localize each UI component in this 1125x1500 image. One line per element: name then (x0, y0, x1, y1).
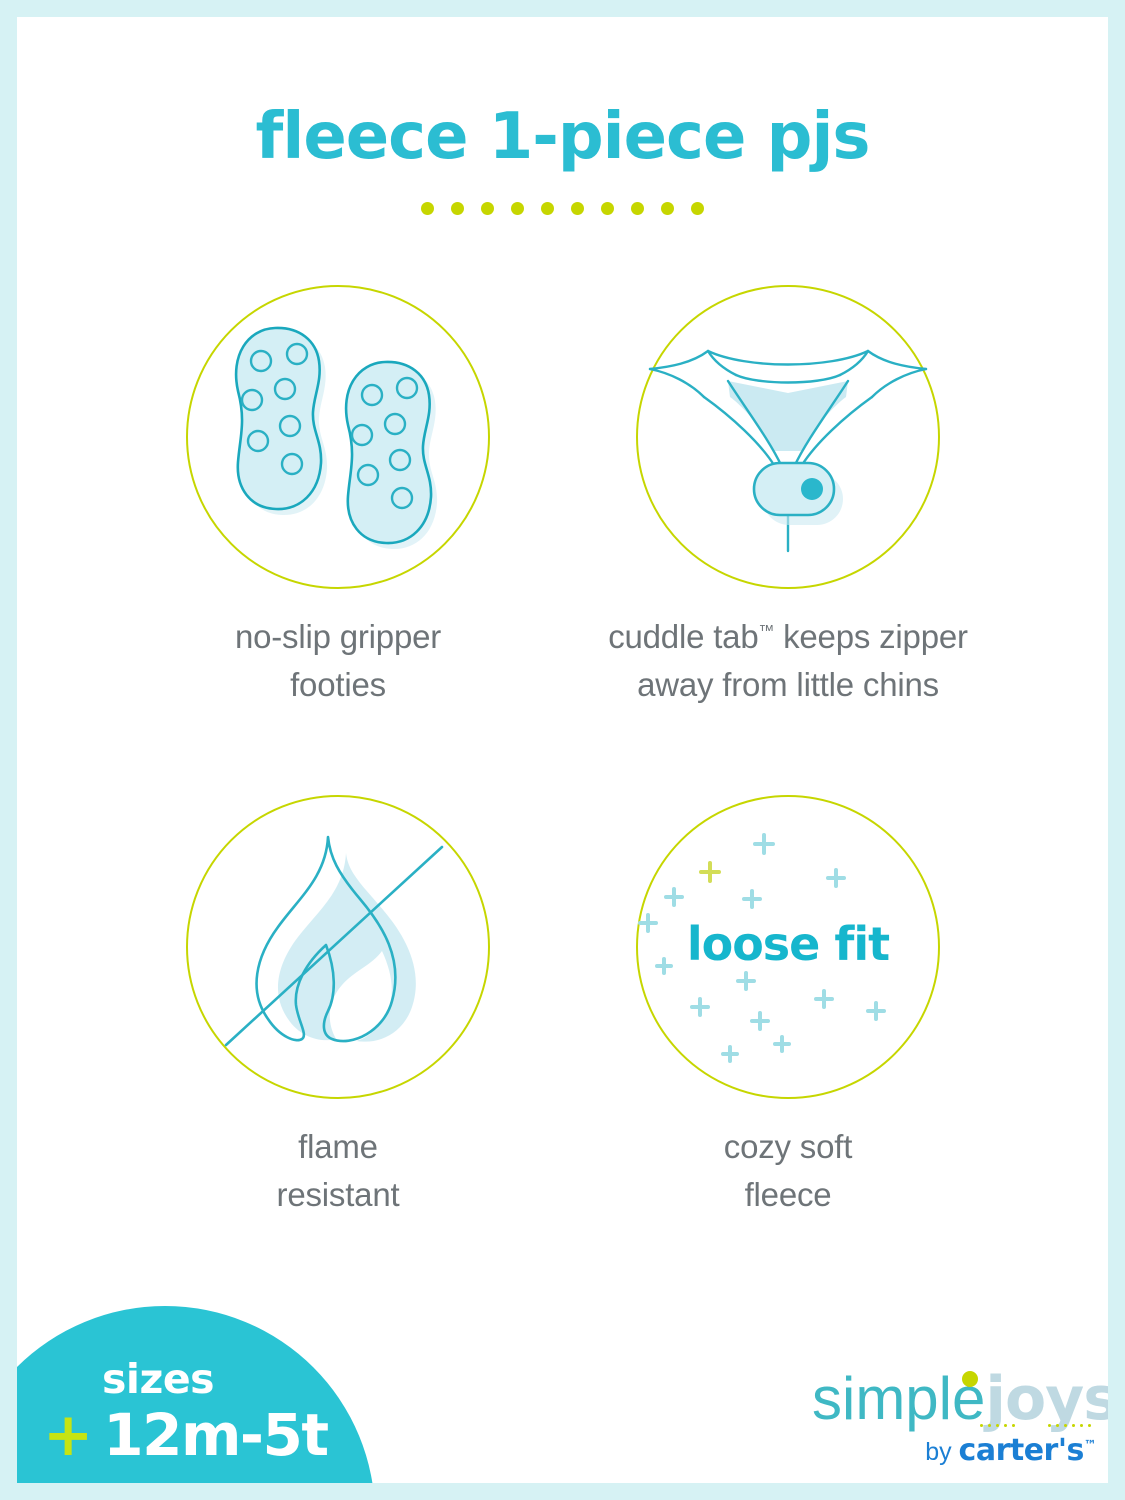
divider-dot (601, 202, 614, 215)
divider-dot (451, 202, 464, 215)
logo-simple-word: simple (812, 1365, 985, 1432)
feature-icon-circle (636, 285, 940, 589)
divider-dot (571, 202, 584, 215)
logo-byline: by carter's™ (812, 1433, 1102, 1468)
caption-line-1: cuddle tab (608, 618, 758, 655)
logo-by-word: by (925, 1438, 958, 1466)
divider-dot (691, 202, 704, 215)
logo-brand-word: carter's (959, 1433, 1084, 1468)
divider-dot (661, 202, 674, 215)
caption-line-1: cozy soft (724, 1128, 852, 1165)
caption-line-1: flame (298, 1128, 378, 1165)
feature-icon-circle (186, 795, 490, 1099)
caption-line-1: no-slip gripper (235, 618, 441, 655)
trademark-symbol: ™ (758, 623, 774, 640)
plus-icon: + (43, 1405, 93, 1465)
divider-dot (631, 202, 644, 215)
infographic-page: fleece 1-piece pjs (0, 0, 1125, 1500)
feature-cozy-soft-fleece: loose fit cozy soft fleece (558, 795, 1018, 1218)
sizes-range: 12m-5t (103, 1406, 327, 1464)
feature-icon-circle: loose fit (636, 795, 940, 1099)
feature-caption: flame resistant (108, 1123, 568, 1218)
no-flame-icon (186, 795, 490, 1099)
divider-dot (421, 202, 434, 215)
caption-line-2: resistant (277, 1176, 400, 1213)
feature-flame-resistant: flame resistant (108, 795, 568, 1218)
cuddle-tab-collar-icon (636, 285, 940, 589)
logo-underdots-left (980, 1424, 1015, 1427)
sizes-label: sizes (102, 1355, 214, 1403)
sizes-value-row: + 12m-5t (43, 1405, 328, 1465)
page-title: fleece 1-piece pjs (17, 105, 1108, 169)
caption-line-2: away from little chins (637, 666, 939, 703)
loose-fit-badge-text: loose fit (636, 917, 940, 971)
divider-dot (511, 202, 524, 215)
caption-line-2: footies (290, 666, 386, 703)
logo-j-dot-icon (962, 1371, 978, 1387)
gripper-footies-icon (186, 285, 490, 589)
divider-dot (481, 202, 494, 215)
logo-brand-trademark: ™ (1084, 1433, 1096, 1468)
feature-caption: cozy soft fleece (558, 1123, 1018, 1218)
brand-logo: simplejoys by carter's™ (812, 1369, 1102, 1468)
divider-dot (541, 202, 554, 215)
feature-caption: cuddle tab™ keeps zipper away from littl… (558, 613, 1018, 708)
caption-line-2: fleece (745, 1176, 832, 1213)
feature-caption: no-slip gripper footies (108, 613, 568, 708)
logo-underdots-right (1048, 1424, 1091, 1427)
logo-wordmark: simplejoys (812, 1369, 1102, 1429)
caption-line-1-suffix: keeps zipper (774, 618, 968, 655)
feature-cuddle-tab: cuddle tab™ keeps zipper away from littl… (558, 285, 1018, 708)
title-divider-dots (17, 202, 1108, 215)
feature-icon-circle (186, 285, 490, 589)
content-card: fleece 1-piece pjs (17, 17, 1108, 1483)
feature-no-slip-gripper-footies: no-slip gripper footies (108, 285, 568, 708)
